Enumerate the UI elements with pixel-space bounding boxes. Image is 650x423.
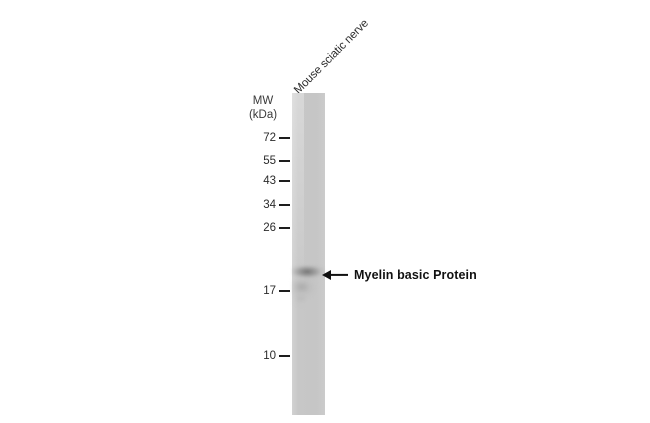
protein-band-smudge [293,293,313,307]
ladder-marker-55: 55 [246,154,290,168]
western-blot-figure: Mouse sciatic nerve MW (kDa) 72 55 43 34… [0,0,650,423]
ladder-marker-34: 34 [246,198,290,212]
ladder-tick-icon [279,160,290,162]
mw-header-line2: (kDa) [240,108,286,122]
ladder-marker-value: 55 [263,154,276,168]
left-arrow-icon [322,269,348,281]
ladder-marker-17: 17 [246,284,290,298]
ladder-tick-icon [279,290,290,292]
ladder-marker-10: 10 [246,349,290,363]
ladder-marker-value: 17 [263,284,276,298]
mw-header-line1: MW [240,94,286,108]
ladder-marker-43: 43 [246,174,290,188]
ladder-marker-value: 43 [263,174,276,188]
ladder-marker-value: 10 [263,349,276,363]
ladder-marker-value: 26 [263,221,276,235]
ladder-marker-value: 72 [263,131,276,145]
band-annotation: Myelin basic Protein [322,267,477,283]
ladder-tick-icon [279,355,290,357]
mw-header: MW (kDa) [240,94,286,122]
ladder-tick-icon [279,137,290,139]
ladder-tick-icon [279,204,290,206]
blot-lane [292,93,325,415]
arrow-tail [330,274,348,276]
ladder-tick-icon [279,227,290,229]
ladder-marker-72: 72 [246,131,290,145]
ladder-marker-value: 34 [263,198,276,212]
band-annotation-label: Myelin basic Protein [354,268,477,282]
ladder-tick-icon [279,180,290,182]
ladder-marker-26: 26 [246,221,290,235]
lane-sample-label: Mouse sciatic nerve [292,17,371,96]
